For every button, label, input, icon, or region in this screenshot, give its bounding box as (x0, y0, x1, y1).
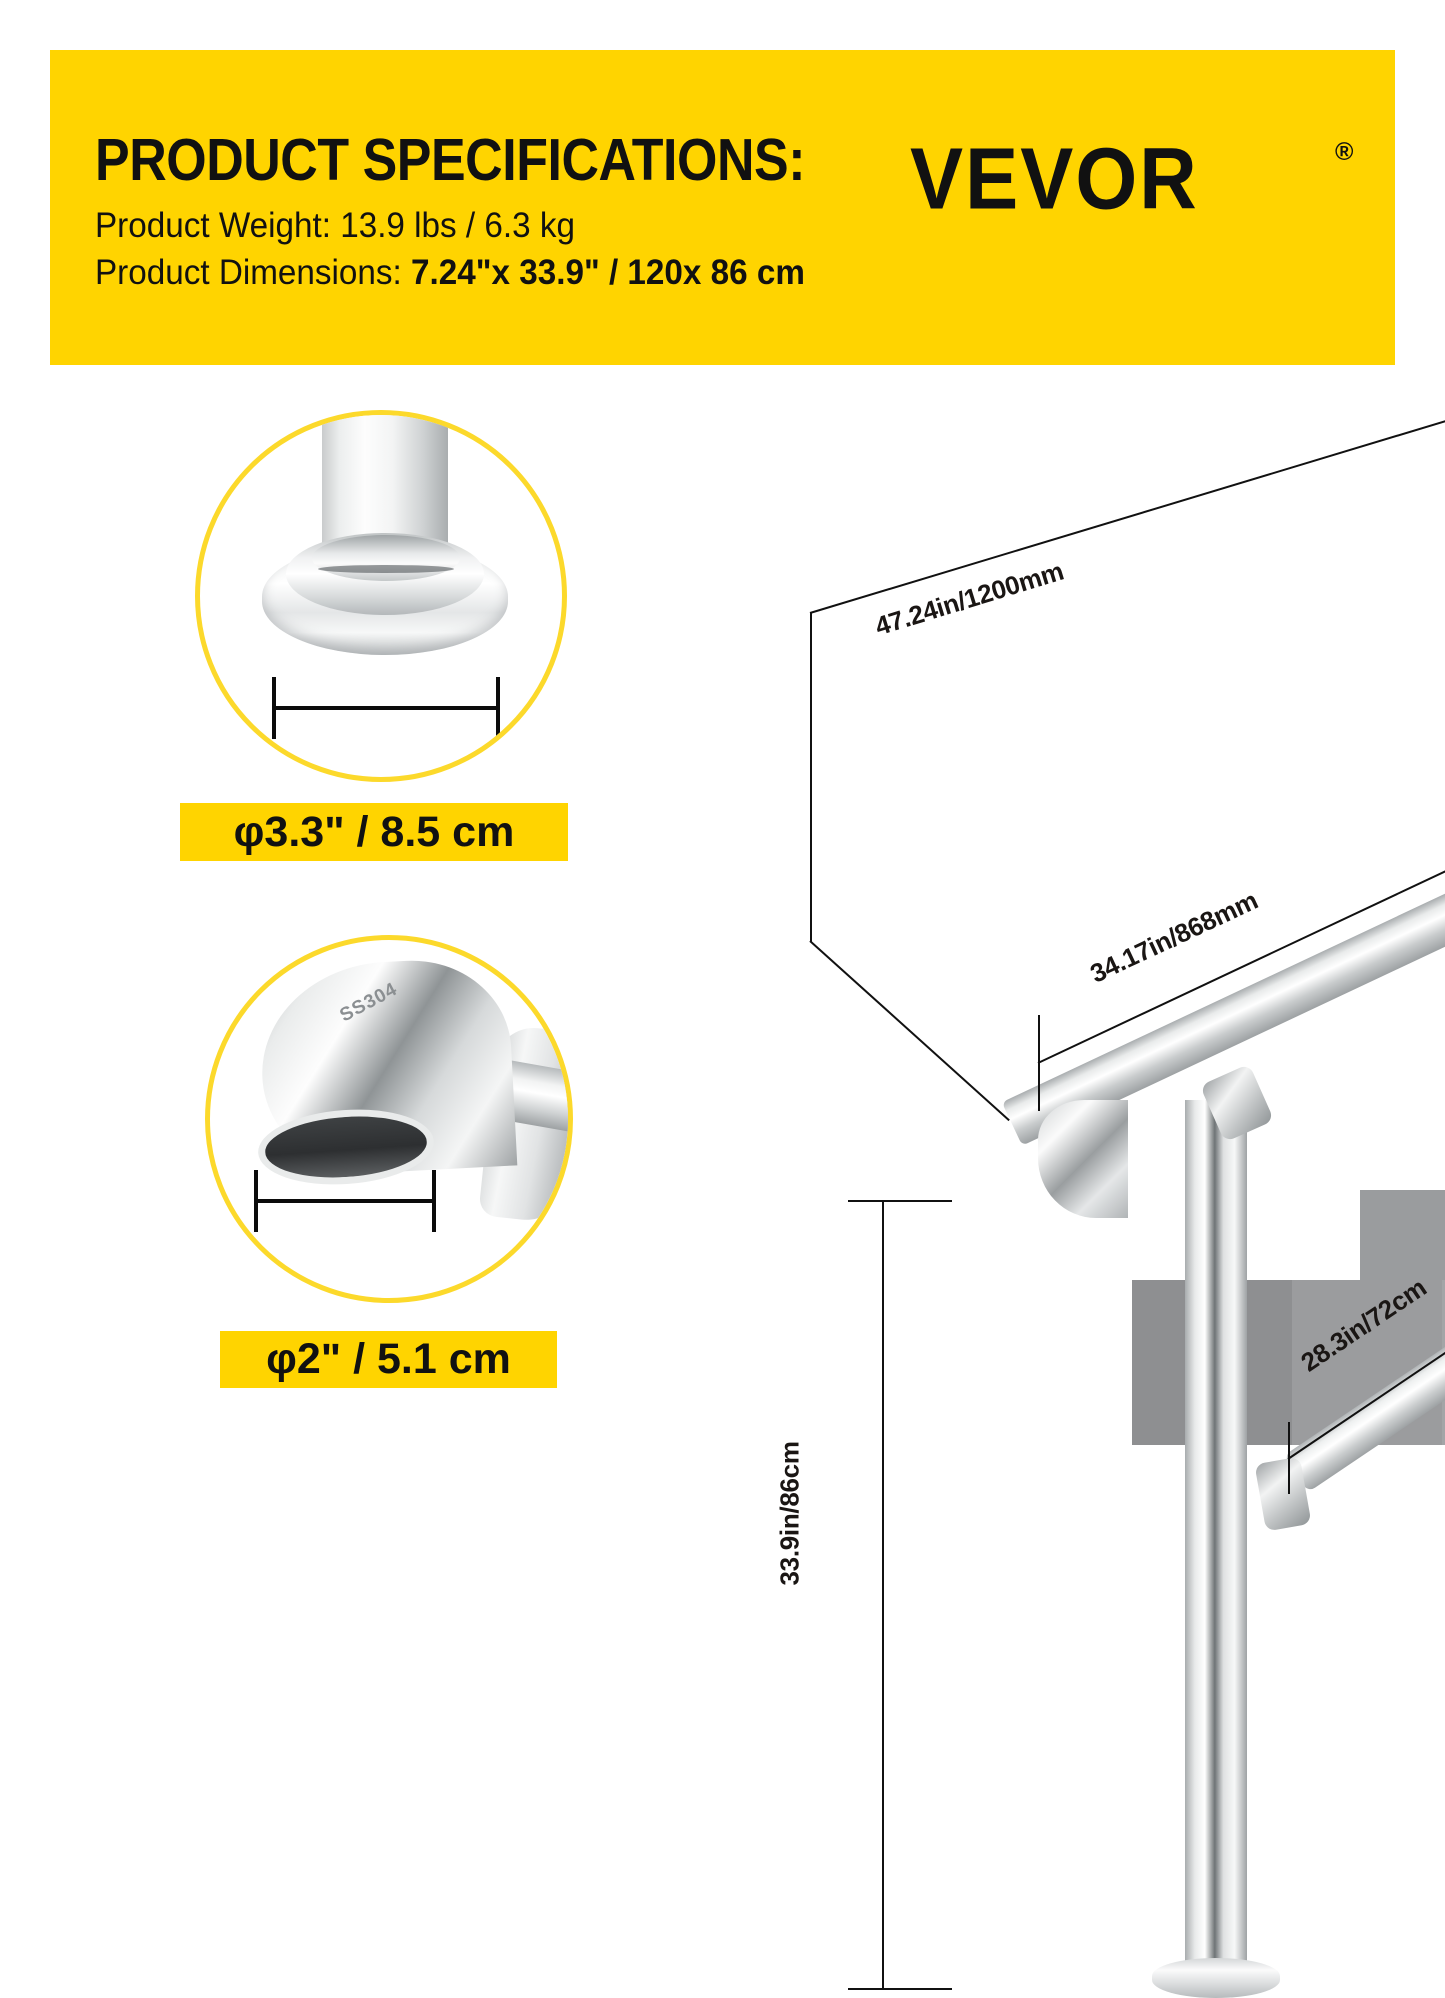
post-left (1185, 1100, 1247, 1990)
dim-label-overall-span: 47.24in/1200mm (871, 556, 1067, 643)
spec-weight-value: 13.9 lbs / 6.3 kg (340, 206, 575, 245)
page-title: PRODUCT SPECIFICATIONS: (95, 126, 805, 194)
flange-collar (312, 535, 460, 581)
elbow-diameter-caption: φ2" / 5.1 cm (220, 1331, 557, 1388)
flange-seam-line (318, 565, 454, 573)
product-specifications-banner: PRODUCT SPECIFICATIONS: Product Weight: … (50, 50, 1395, 365)
registered-trademark-icon: ® (1335, 138, 1353, 167)
dim-span-left-tick (810, 612, 812, 942)
dim-span-left-foot (809, 940, 1010, 1121)
flange-diameter-dimension (272, 677, 500, 739)
handrail-technical-drawing: 47.24in/1200mm 34.17in/868mm 10.75in/273… (780, 400, 1440, 1445)
spec-dimensions-value: 7.24"x 33.9" / 120x 86 cm (411, 253, 805, 292)
dim-label-overall-height: 33.9in/86cm (775, 1441, 806, 1585)
spec-weight-line: Product Weight: 13.9 lbs / 6.3 kg (95, 206, 575, 246)
vevor-logo: VEVOR (910, 128, 1199, 230)
spec-dimensions-line: Product Dimensions: 7.24"x 33.9" / 120x … (95, 253, 805, 293)
detail-circle-elbow: SS304 (205, 935, 573, 1303)
dim-run-left-tick (1038, 1015, 1040, 1111)
dim-height-top-tick (848, 1200, 952, 1202)
handrail-curved-end (1038, 1100, 1128, 1218)
dim-height-bottom-tick (848, 1988, 952, 1990)
spec-dimensions-label: Product Dimensions: (95, 253, 402, 292)
detail-circle-flange (195, 410, 567, 782)
step-middle-shade (1360, 1190, 1445, 1280)
dim-height-line (882, 1200, 884, 1990)
dim-label-handrail-run: 34.17in/868mm (1085, 885, 1262, 990)
flange-diameter-caption: φ3.3" / 8.5 cm (180, 803, 568, 861)
elbow-diameter-dimension (254, 1170, 436, 1232)
spec-weight-label: Product Weight: (95, 206, 331, 245)
post-left-flange (1152, 1958, 1280, 1998)
dim-crossbar-low-tick (1288, 1422, 1290, 1494)
